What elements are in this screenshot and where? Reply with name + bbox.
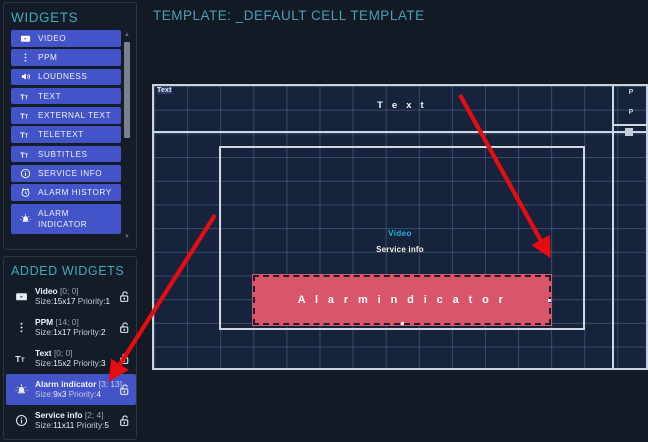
size-label: Size: [35, 390, 53, 399]
scrollbar-thumb[interactable] [124, 42, 130, 138]
svg-text:T: T [15, 354, 21, 364]
text-widget-center-label: T e x t [154, 100, 648, 111]
added-widget-coords: [0; 0] [60, 286, 79, 296]
ppm-cell-label-2: P [614, 109, 648, 116]
priority-value: 5 [104, 421, 109, 430]
ppm-divider [614, 124, 646, 126]
priority-value: 4 [96, 390, 101, 399]
size-value: 1x17 [53, 328, 71, 337]
widget-item-ppm[interactable]: PPM [11, 49, 121, 66]
priority-label: Priority: [69, 390, 97, 399]
info-circle-icon [20, 168, 31, 179]
added-widget-row-text[interactable]: TTText [0; 0]Size:15x2 Priority:3 [6, 343, 136, 374]
priority-label: Priority: [73, 328, 101, 337]
resize-handle-bottom[interactable] [401, 322, 404, 325]
widgets-list[interactable]: VIDEOPPMLOUDNESSTTTEXTTTEXTERNAL TEXTTTT… [11, 30, 121, 242]
widget-item-label: TEXT [34, 91, 61, 102]
unlocked-padlock-icon [118, 414, 131, 427]
widget-item-external-text[interactable]: TTEXTERNAL TEXT [11, 107, 121, 124]
text-widget-region[interactable]: Text T e x t [154, 86, 648, 133]
added-widget-coords: [0; 0] [54, 348, 73, 358]
widgets-panel-title: WIDGETS [4, 3, 136, 31]
info-circle-icon [17, 168, 34, 179]
template-canvas[interactable]: Text T e x t P P Video Service info A l … [152, 84, 648, 370]
video-icon [17, 33, 34, 44]
size-value: 15x2 [53, 359, 71, 368]
widget-item-service-info[interactable]: SERVICE INFO [11, 165, 121, 182]
text-tt-icon: TT [17, 91, 34, 102]
widget-item-label: ALARM HISTORY [34, 187, 112, 198]
size-value: 9x3 [53, 390, 66, 399]
size-label: Size: [35, 421, 53, 430]
text-tt-icon: TT [15, 352, 28, 365]
unlocked-padlock-icon[interactable] [116, 290, 132, 303]
added-widget-row-alarm-indicator[interactable]: Alarm indicator [3; 13]Size:9x3 Priority… [6, 374, 136, 405]
added-widget-name: PPM [35, 317, 53, 327]
unlocked-padlock-icon [118, 321, 131, 334]
svg-text:T: T [20, 92, 25, 101]
size-label: Size: [35, 297, 53, 306]
widget-item-text[interactable]: TTTEXT [11, 88, 121, 105]
video-icon [15, 290, 28, 303]
ppm-dots-icon [20, 52, 31, 63]
alarm-bell-icon [11, 383, 31, 396]
alarm-bell-icon [20, 213, 31, 224]
widget-item-loudness[interactable]: LOUDNESS [11, 69, 121, 86]
priority-value: 2 [101, 328, 106, 337]
alarm-clock-icon [20, 187, 31, 198]
priority-label: Priority: [73, 359, 101, 368]
widget-item-teletext[interactable]: TTTELETEXT [11, 126, 121, 143]
size-label: Size: [35, 328, 53, 337]
unlocked-padlock-icon[interactable] [116, 383, 132, 396]
ppm-widget-region[interactable]: P P [612, 86, 646, 370]
svg-text:T: T [25, 153, 29, 159]
priority-label: Priority: [78, 297, 106, 306]
text-tt-icon: TT [20, 129, 31, 140]
alarm-clock-icon [17, 187, 34, 198]
widget-item-video[interactable]: VIDEO [11, 30, 121, 47]
alarm-indicator-widget[interactable]: A l a r m i n d i c a t o r [253, 275, 551, 325]
ppm-square-marker [625, 128, 633, 136]
alarm-bell-icon [15, 383, 28, 396]
added-widget-name: Service info [35, 410, 82, 420]
widget-item-label: PPM [34, 52, 57, 63]
text-tt-icon: TT [17, 110, 34, 121]
added-widget-row-video[interactable]: Video [0; 0]Size:15x17 Priority:1 [6, 281, 136, 312]
app-root: WIDGETS VIDEOPPMLOUDNESSTTTEXTTTEXTERNAL… [0, 0, 648, 442]
text-widget-corner-label: Text [157, 87, 172, 94]
resize-handle-right[interactable] [548, 299, 551, 302]
widgets-scrollbar[interactable]: ▲ ▼ [123, 31, 131, 241]
video-icon [20, 33, 31, 44]
size-label: Size: [35, 359, 53, 368]
widgets-panel: WIDGETS VIDEOPPMLOUDNESSTTTEXTTTEXTERNAL… [3, 2, 137, 250]
scroll-down-arrow-icon[interactable]: ▼ [123, 233, 131, 241]
text-tt-icon: TT [20, 149, 31, 160]
svg-text:T: T [20, 130, 25, 139]
info-circle-icon [15, 414, 28, 427]
speaker-icon [20, 71, 31, 82]
widget-item-label: ALARM INDICATOR [34, 208, 87, 230]
ppm-dots-icon [11, 321, 31, 334]
priority-value: 3 [101, 359, 106, 368]
text-tt-icon: TT [20, 91, 31, 102]
info-circle-icon [11, 414, 31, 427]
added-widgets-panel-title: ADDED WIDGETS [4, 257, 136, 284]
ppm-dots-icon [17, 52, 34, 63]
widget-item-label: LOUDNESS [34, 71, 87, 82]
priority-label: Priority: [77, 421, 105, 430]
svg-text:T: T [25, 114, 29, 120]
added-widget-name: Text [35, 348, 52, 358]
widget-item-alarm-indicator[interactable]: ALARM INDICATOR [11, 204, 121, 234]
unlocked-padlock-icon[interactable] [116, 352, 132, 365]
widget-item-subtitles[interactable]: TTSUBTITLES [11, 146, 121, 163]
ppm-cell-label-1: P [614, 89, 648, 96]
widget-item-label: SUBTITLES [34, 149, 88, 160]
svg-text:T: T [20, 150, 25, 159]
unlocked-padlock-icon[interactable] [116, 414, 132, 427]
page-title: TEMPLATE: _DEFAULT CELL TEMPLATE [153, 8, 425, 23]
svg-text:T: T [25, 133, 29, 139]
widget-item-label: TELETEXT [34, 129, 84, 140]
alarm-indicator-widget-label: A l a r m i n d i c a t o r [298, 294, 507, 306]
size-value: 15x17 [53, 297, 75, 306]
left-sidebar: WIDGETS VIDEOPPMLOUDNESSTTTEXTTTEXTERNAL… [0, 0, 140, 442]
added-widget-name: Video [35, 286, 58, 296]
widget-item-label: EXTERNAL TEXT [34, 110, 111, 121]
widget-item-label: SERVICE INFO [34, 168, 102, 179]
priority-value: 1 [106, 297, 111, 306]
added-widget-coords: [2; 4] [85, 410, 104, 420]
added-widget-row-ppm[interactable]: PPM [14; 0]Size:1x17 Priority:2 [6, 312, 136, 343]
scrollbar-track[interactable] [124, 40, 130, 232]
added-widgets-list[interactable]: Video [0; 0]Size:15x17 Priority:1PPM [14… [6, 281, 136, 439]
speaker-icon [17, 71, 34, 82]
unlocked-padlock-icon [118, 352, 131, 365]
unlocked-padlock-icon [118, 383, 131, 396]
added-widgets-panel: ADDED WIDGETS Video [0; 0]Size:15x17 Pri… [3, 256, 137, 440]
main-area: TEMPLATE: _DEFAULT CELL TEMPLATE Text T … [140, 0, 648, 442]
text-tt-icon: TT [17, 129, 34, 140]
widget-item-label: VIDEO [34, 33, 66, 44]
svg-text:T: T [20, 358, 24, 364]
alarm-bell-icon [17, 213, 34, 224]
ppm-dots-icon [15, 321, 28, 334]
size-value: 11x11 [53, 421, 74, 430]
svg-text:T: T [25, 95, 29, 101]
added-widget-name: Alarm indicator [35, 379, 96, 389]
video-icon [11, 290, 31, 303]
text-tt-icon: TT [11, 352, 31, 365]
added-widget-row-service-info[interactable]: Service info [2; 4]Size:11x11 Priority:5 [6, 405, 136, 436]
text-tt-icon: TT [20, 110, 31, 121]
unlocked-padlock-icon [118, 290, 131, 303]
service-info-widget-label: Service info [154, 245, 646, 254]
scroll-up-arrow-icon[interactable]: ▲ [123, 31, 131, 39]
unlocked-padlock-icon[interactable] [116, 321, 132, 334]
added-widget-coords: [14; 0] [55, 317, 78, 327]
widget-item-alarm-history[interactable]: ALARM HISTORY [11, 184, 121, 201]
text-tt-icon: TT [17, 149, 34, 160]
svg-text:T: T [20, 111, 25, 120]
video-widget-label: Video [154, 229, 646, 238]
